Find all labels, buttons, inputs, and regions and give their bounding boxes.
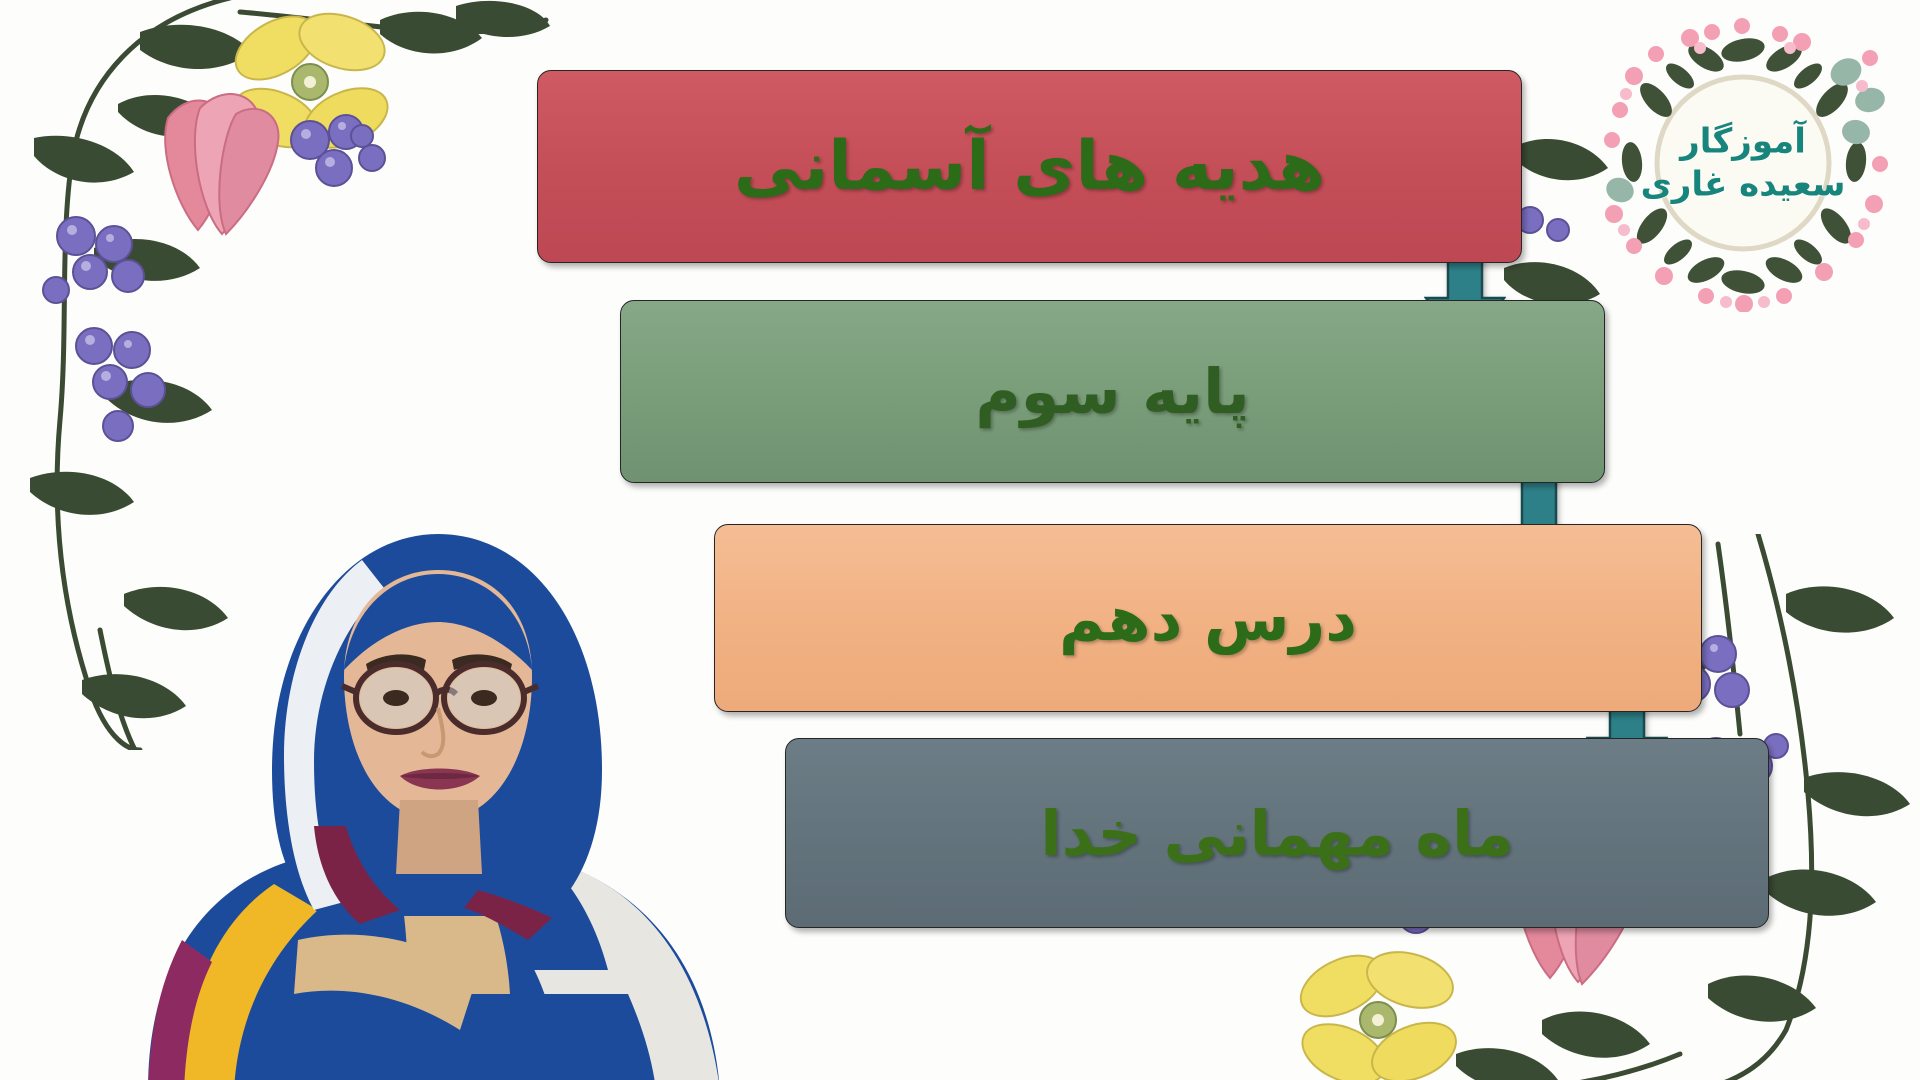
presenter-webcam-overlay — [108, 470, 758, 1080]
box-lesson-ten: درس دهم — [714, 524, 1702, 712]
box-grade-third: پایه سوم — [620, 300, 1605, 483]
box-heavenly-gifts-title: هدیه های آسمانی — [537, 70, 1522, 263]
slide-canvas: هدیه های آسمانی پایه سوم درس دهم ماه مهم… — [0, 0, 1920, 1080]
yellow-flower-icon — [225, 3, 397, 159]
box-label-subject: ماه مهمانی خدا — [1040, 797, 1513, 870]
box-label-grade: پایه سوم — [975, 355, 1249, 428]
purple-berries-icon — [43, 115, 385, 441]
box-label-title: هدیه های آسمانی — [734, 127, 1325, 206]
box-month-of-gods-feast: ماه مهمانی خدا — [785, 738, 1769, 928]
pink-tulip-icon — [165, 94, 278, 234]
yellow-flower-icon — [1291, 943, 1464, 1080]
floral-wreath-frame — [1594, 14, 1892, 312]
box-label-lesson: درس دهم — [1059, 582, 1357, 655]
teacher-logo-badge: آموزگار سعیده غاری — [1594, 14, 1892, 312]
